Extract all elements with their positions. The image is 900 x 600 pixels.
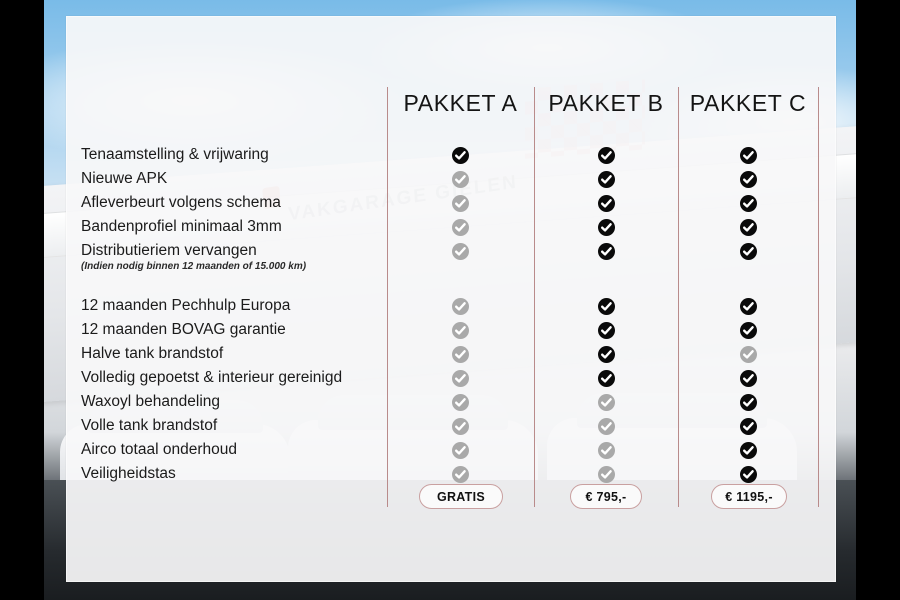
feature-cell-c <box>678 167 818 191</box>
feature-cell-b <box>534 342 678 366</box>
check-excluded-icon <box>598 442 615 459</box>
feature-label: Afleverbeurt volgens schema <box>81 191 281 215</box>
screenshot-root: VAKGARAGE GIELEN PAKKET A PAKKET B PAKKE… <box>0 0 900 600</box>
check-excluded-icon <box>598 394 615 411</box>
feature-cell-a <box>387 462 534 486</box>
feature-cell-a <box>387 366 534 390</box>
feature-cell-c <box>678 390 818 414</box>
feature-cell-a <box>387 191 534 215</box>
check-included-icon <box>598 195 615 212</box>
feature-cell-c <box>678 215 818 239</box>
feature-row: Airco totaal onderhoud <box>67 438 835 462</box>
check-excluded-icon <box>452 243 469 260</box>
check-excluded-icon <box>452 418 469 435</box>
feature-row: Tenaamstelling & vrijwaring <box>67 143 835 167</box>
feature-row: Halve tank brandstof <box>67 342 835 366</box>
feature-row: 12 maanden Pechhulp Europa <box>67 294 835 318</box>
feature-cell-b <box>534 390 678 414</box>
feature-label: Tenaamstelling & vrijwaring <box>81 143 269 167</box>
feature-cell-a <box>387 390 534 414</box>
feature-cell-c <box>678 143 818 167</box>
check-included-icon <box>598 171 615 188</box>
check-included-icon <box>740 322 757 339</box>
check-included-icon <box>598 370 615 387</box>
feature-cell-b <box>534 366 678 390</box>
feature-cell-a <box>387 215 534 239</box>
feature-cell-b <box>534 462 678 486</box>
price-badge-pakket-c[interactable]: € 1195,- <box>711 484 787 509</box>
check-included-icon <box>740 298 757 315</box>
feature-cell-a <box>387 438 534 462</box>
feature-cell-a <box>387 414 534 438</box>
check-included-icon <box>740 171 757 188</box>
feature-cell-b <box>534 143 678 167</box>
check-excluded-icon <box>452 394 469 411</box>
check-included-icon <box>740 370 757 387</box>
feature-row: Volledig gepoetst & interieur gereinigd <box>67 366 835 390</box>
feature-cell-b <box>534 215 678 239</box>
check-excluded-icon <box>452 298 469 315</box>
feature-row: 12 maanden BOVAG garantie <box>67 318 835 342</box>
check-included-icon <box>740 394 757 411</box>
check-excluded-icon <box>452 219 469 236</box>
feature-row: Volle tank brandstof <box>67 414 835 438</box>
feature-row: Afleverbeurt volgens schema <box>67 191 835 215</box>
feature-label: Bandenprofiel minimaal 3mm <box>81 215 282 239</box>
feature-label: Waxoyl behandeling <box>81 390 220 414</box>
feature-cell-b <box>534 414 678 438</box>
check-excluded-icon <box>598 418 615 435</box>
check-excluded-icon <box>452 322 469 339</box>
feature-cell-c <box>678 438 818 462</box>
feature-cell-c <box>678 191 818 215</box>
feature-cell-a <box>387 294 534 318</box>
feature-cell-a <box>387 143 534 167</box>
check-included-icon <box>740 219 757 236</box>
feature-cell-c <box>678 462 818 486</box>
feature-cell-b <box>534 239 678 263</box>
feature-cell-c <box>678 318 818 342</box>
feature-cell-c <box>678 414 818 438</box>
check-included-icon <box>740 442 757 459</box>
feature-cell-a <box>387 318 534 342</box>
check-excluded-icon <box>598 466 615 483</box>
feature-label: 12 maanden BOVAG garantie <box>81 318 286 342</box>
feature-label: Nieuwe APK <box>81 167 167 191</box>
check-included-icon <box>740 243 757 260</box>
check-included-icon <box>598 346 615 363</box>
feature-cell-b <box>534 167 678 191</box>
check-included-icon <box>598 322 615 339</box>
check-included-icon <box>452 147 469 164</box>
feature-cell-c <box>678 294 818 318</box>
feature-label: 12 maanden Pechhulp Europa <box>81 294 290 318</box>
check-included-icon <box>598 219 615 236</box>
check-excluded-icon <box>452 370 469 387</box>
feature-cell-b <box>534 191 678 215</box>
check-excluded-icon <box>452 195 469 212</box>
check-included-icon <box>598 298 615 315</box>
feature-cell-a <box>387 239 534 263</box>
feature-cell-c <box>678 342 818 366</box>
feature-note: (Indien nodig binnen 12 maanden of 15.00… <box>81 260 306 273</box>
feature-cell-c <box>678 366 818 390</box>
feature-row: Waxoyl behandeling <box>67 390 835 414</box>
check-included-icon <box>740 418 757 435</box>
check-included-icon <box>598 147 615 164</box>
check-excluded-icon <box>452 466 469 483</box>
feature-row: Nieuwe APK <box>67 167 835 191</box>
feature-label: Airco totaal onderhoud <box>81 438 237 462</box>
feature-cell-a <box>387 167 534 191</box>
feature-label: Veiligheidstas <box>81 462 176 486</box>
feature-cell-b <box>534 438 678 462</box>
feature-row: Veiligheidstas <box>67 462 835 486</box>
check-included-icon <box>740 466 757 483</box>
feature-label: Halve tank brandstof <box>81 342 223 366</box>
feature-row: Bandenprofiel minimaal 3mm <box>67 215 835 239</box>
feature-cell-a <box>387 342 534 366</box>
price-badge-pakket-b[interactable]: € 795,- <box>570 484 642 509</box>
check-included-icon <box>598 243 615 260</box>
feature-cell-b <box>534 294 678 318</box>
check-included-icon <box>740 195 757 212</box>
feature-label: Volle tank brandstof <box>81 414 217 438</box>
feature-cell-b <box>534 318 678 342</box>
price-badge-pakket-a[interactable]: GRATIS <box>419 484 503 509</box>
check-excluded-icon <box>740 346 757 363</box>
feature-cell-c <box>678 239 818 263</box>
check-included-icon <box>740 147 757 164</box>
check-excluded-icon <box>452 346 469 363</box>
check-excluded-icon <box>452 442 469 459</box>
package-comparison-panel: PAKKET A PAKKET B PAKKET C Tenaamstellin… <box>66 16 836 582</box>
feature-label: Volledig gepoetst & interieur gereinigd <box>81 366 342 390</box>
check-excluded-icon <box>452 171 469 188</box>
